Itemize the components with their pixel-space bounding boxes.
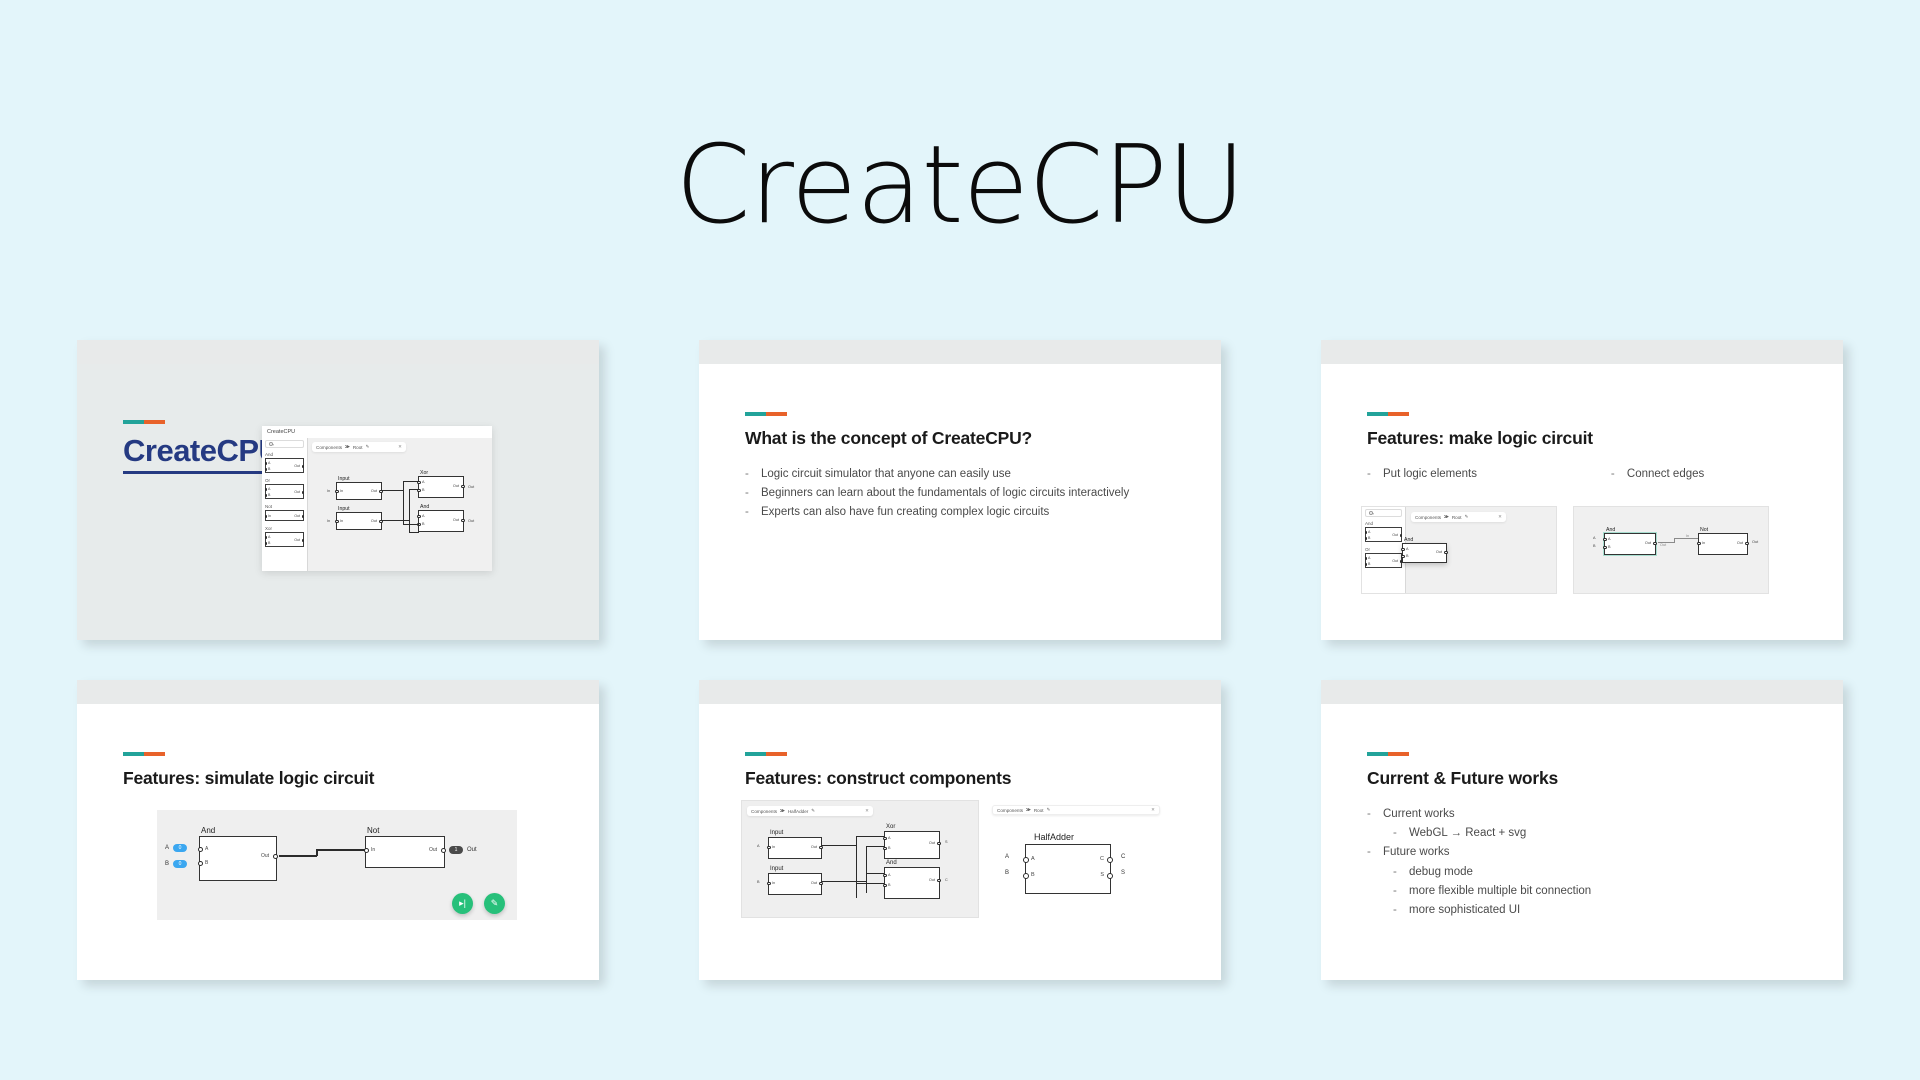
gate-box: A B Out bbox=[1365, 553, 1402, 568]
pin[interactable] bbox=[819, 846, 822, 849]
pin[interactable] bbox=[1745, 542, 1748, 545]
list-item: - Experts can also have fun creating com… bbox=[745, 505, 1175, 520]
output-label: Out bbox=[467, 847, 477, 853]
pin[interactable] bbox=[335, 520, 338, 523]
pin[interactable] bbox=[198, 861, 203, 866]
canvas-gate-not[interactable]: Not In Out bbox=[1698, 533, 1748, 555]
wire-label: Out bbox=[1660, 543, 1666, 547]
pin[interactable] bbox=[1023, 857, 1029, 863]
slide-topbar bbox=[699, 680, 1221, 704]
pin[interactable] bbox=[937, 842, 940, 845]
slide-title: Features: make logic circuit bbox=[1367, 428, 1807, 449]
list-item: - Connect edges bbox=[1611, 467, 1807, 482]
pin-label: B bbox=[1031, 872, 1035, 878]
input-row-b[interactable]: B 0 bbox=[165, 860, 187, 868]
breadcrumb[interactable]: Components ≫ HalfAdder ✎ ✕ bbox=[747, 806, 873, 816]
pin[interactable] bbox=[1401, 548, 1404, 551]
input-row-a[interactable]: A 0 bbox=[165, 844, 187, 852]
breadcrumb-current[interactable]: Root bbox=[1034, 808, 1044, 813]
slide-body: CreateCPU CreateCPU And A B bbox=[77, 364, 599, 640]
pin-label: In bbox=[371, 847, 375, 853]
gate-box: In Out bbox=[265, 510, 304, 521]
pin[interactable] bbox=[461, 485, 464, 488]
pin[interactable] bbox=[1107, 873, 1113, 879]
wire bbox=[856, 836, 857, 898]
sim-gate-and[interactable]: And A B Out bbox=[199, 836, 277, 881]
close-icon[interactable]: ✕ bbox=[1151, 807, 1155, 813]
bullet-dash: - bbox=[1393, 865, 1409, 880]
pin-label: Out bbox=[429, 847, 437, 853]
wire-label: In bbox=[1686, 534, 1689, 538]
close-icon[interactable]: ✕ bbox=[398, 444, 402, 450]
search-input[interactable] bbox=[265, 440, 304, 448]
cover-heading-group: CreateCPU bbox=[123, 420, 280, 474]
bullet-dash: - bbox=[1393, 826, 1409, 841]
breadcrumb-current[interactable]: Root bbox=[353, 445, 363, 450]
wire bbox=[822, 845, 857, 846]
io-label: Out bbox=[468, 485, 474, 489]
gate-label: Xor bbox=[886, 824, 895, 830]
accent-teal bbox=[1367, 412, 1388, 416]
pin[interactable] bbox=[1653, 542, 1656, 545]
accent-orange bbox=[144, 420, 165, 424]
cover-logo: CreateCPU bbox=[123, 433, 280, 474]
canvas-gate-input-2[interactable]: Input In Out bbox=[768, 873, 822, 895]
gate-label: And bbox=[420, 504, 429, 510]
accent-teal bbox=[745, 412, 766, 416]
pin[interactable] bbox=[883, 874, 886, 877]
canvas-gate-input-2[interactable]: Input In Out bbox=[336, 512, 382, 530]
screenshot-root-halfadder: Components ≫ Root ✎ ✕ HalfAdder A B C S bbox=[987, 800, 1167, 918]
pin[interactable] bbox=[1603, 538, 1606, 541]
simulation-stage: A 0 B 0 And A B Out Not bbox=[157, 810, 517, 920]
io-label: S bbox=[945, 840, 948, 844]
wire bbox=[409, 489, 410, 533]
search-icon bbox=[269, 442, 273, 446]
io-label: B bbox=[1005, 870, 1009, 876]
wire bbox=[279, 855, 317, 857]
io-label: S bbox=[1121, 870, 1125, 876]
accent-teal bbox=[123, 752, 144, 756]
accent-bar bbox=[1367, 752, 1409, 756]
canvas-gate-xor[interactable]: Xor A B Out bbox=[884, 831, 940, 859]
accent-orange bbox=[1388, 412, 1409, 416]
palette-item-not[interactable]: Not In Out bbox=[265, 504, 304, 521]
gate-label: Input bbox=[338, 506, 350, 512]
bullet-dash: - bbox=[1611, 467, 1627, 482]
gate-box: A B Out bbox=[265, 484, 304, 499]
list-item: - Put logic elements bbox=[1367, 467, 1573, 482]
accent-bar bbox=[745, 412, 787, 416]
screenshot-connect-edges: And A B Out A B Not In Out Out bbox=[1573, 506, 1769, 594]
list-item: - Beginners can learn about the fundamen… bbox=[745, 486, 1175, 501]
bullet-text: Experts can also have fun creating compl… bbox=[761, 505, 1175, 520]
pin-label: C bbox=[1100, 856, 1104, 862]
pin[interactable] bbox=[1023, 873, 1029, 879]
step-button[interactable]: ▸| bbox=[452, 893, 473, 914]
gate-box: A B Out bbox=[265, 458, 304, 473]
search-input[interactable] bbox=[1365, 509, 1402, 517]
breadcrumb-current[interactable]: Root bbox=[1452, 515, 1462, 520]
palette-label: Or bbox=[1365, 547, 1402, 552]
pin[interactable] bbox=[937, 879, 940, 882]
breadcrumb[interactable]: Components ≫ Root ✎ ✕ bbox=[1411, 512, 1506, 522]
gate-box: A B Out bbox=[265, 532, 304, 547]
slide-body: Features: simulate logic circuit A 0 B 0… bbox=[77, 704, 599, 980]
pin[interactable] bbox=[883, 847, 886, 850]
pin[interactable] bbox=[819, 882, 822, 885]
bullet-text: more sophisticated UI bbox=[1409, 903, 1797, 918]
gate-box: A B Out bbox=[1365, 527, 1402, 542]
accent-orange bbox=[144, 752, 165, 756]
palette-item-or[interactable]: Or A B Out bbox=[265, 478, 304, 499]
screenshot-put-elements: And A B Out Or A B bbox=[1361, 506, 1557, 594]
palette-label: And bbox=[265, 452, 304, 457]
pin-label: S bbox=[1100, 872, 1104, 878]
close-icon[interactable]: ✕ bbox=[1498, 514, 1502, 520]
bullet-dash: - bbox=[745, 505, 761, 520]
breadcrumb-current[interactable]: HalfAdder bbox=[788, 809, 808, 814]
io-label: B bbox=[757, 880, 760, 884]
bullet-list: - Current works - WebGL → React + svg - … bbox=[1367, 807, 1797, 918]
pencil-icon: ✎ bbox=[491, 898, 499, 909]
gate-label: And bbox=[886, 860, 897, 866]
io-label: A bbox=[1005, 854, 1009, 860]
palette-item-xor[interactable]: Xor A B Out bbox=[265, 526, 304, 547]
pin[interactable] bbox=[1697, 542, 1700, 545]
slide-concept[interactable]: What is the concept of CreateCPU? - Logi… bbox=[699, 340, 1221, 640]
chevron-right-icon: ≫ bbox=[1444, 514, 1449, 520]
dragged-gate[interactable]: And A B Out bbox=[1402, 543, 1447, 563]
palette-item-or[interactable]: Or A B Out bbox=[1365, 547, 1402, 568]
slide-body: What is the concept of CreateCPU? - Logi… bbox=[699, 364, 1221, 640]
accent-bar bbox=[123, 420, 165, 424]
pencil-icon[interactable]: ✎ bbox=[1047, 807, 1051, 813]
wire bbox=[403, 524, 419, 525]
pin-label: A bbox=[1031, 856, 1035, 862]
screenshot-halfadder-internals: Components ≫ HalfAdder ✎ ✕ Input In Out … bbox=[741, 800, 979, 918]
gate-label: Input bbox=[338, 476, 350, 482]
pencil-icon[interactable]: ✎ bbox=[366, 444, 370, 450]
slide-title: What is the concept of CreateCPU? bbox=[745, 428, 1175, 449]
pin-label: Out bbox=[261, 853, 269, 859]
accent-bar bbox=[745, 752, 787, 756]
accent-teal bbox=[1367, 752, 1388, 756]
pin[interactable] bbox=[198, 847, 203, 852]
canvas-gate-input-1[interactable]: Input In Out bbox=[768, 837, 822, 859]
slide-current-future-works[interactable]: Current & Future works - Current works -… bbox=[1321, 680, 1843, 980]
bullet-list: - Logic circuit simulator that anyone ca… bbox=[745, 467, 1175, 521]
output-row: 1 Out bbox=[449, 846, 477, 854]
wire bbox=[856, 836, 884, 837]
gate-label: And bbox=[1404, 537, 1413, 543]
component-palette[interactable]: And A B Out Or A B bbox=[262, 438, 308, 571]
accent-orange bbox=[766, 412, 787, 416]
list-item: - debug mode bbox=[1367, 865, 1797, 880]
pin[interactable] bbox=[767, 882, 770, 885]
bullet-text: Current works bbox=[1383, 807, 1797, 822]
pin[interactable] bbox=[335, 490, 338, 493]
io-label: C bbox=[945, 878, 948, 882]
bullet-text: Connect edges bbox=[1627, 467, 1807, 482]
app-screenshot-cover: CreateCPU And A B Out bbox=[262, 426, 492, 571]
breadcrumb[interactable]: Components ≫ Root ✎ ✕ bbox=[992, 805, 1160, 815]
pin[interactable] bbox=[1107, 857, 1113, 863]
list-item: - WebGL → React + svg bbox=[1367, 826, 1797, 841]
gate-label: And bbox=[201, 826, 215, 835]
io-label: B bbox=[1593, 544, 1596, 548]
palette-item-and[interactable]: And A B Out bbox=[1365, 521, 1402, 542]
pin[interactable] bbox=[883, 837, 886, 840]
slide-title: Current & Future works bbox=[1367, 768, 1797, 789]
input-label: A bbox=[165, 845, 169, 851]
wire bbox=[382, 520, 410, 521]
breadcrumb-root[interactable]: Components bbox=[1415, 515, 1441, 520]
bullet-text: Put logic elements bbox=[1383, 467, 1573, 482]
output-value-badge: 1 bbox=[449, 846, 463, 854]
io-label: A bbox=[757, 844, 760, 848]
bullet-dash: - bbox=[1393, 903, 1409, 918]
accent-teal bbox=[123, 420, 144, 424]
gate-label: Not bbox=[1700, 527, 1708, 533]
io-label: C bbox=[1121, 854, 1125, 860]
wire bbox=[866, 873, 884, 874]
search-icon bbox=[1369, 511, 1373, 515]
wire bbox=[409, 532, 419, 533]
pin[interactable] bbox=[1401, 555, 1404, 558]
list-item: - more flexible multiple bit connection bbox=[1367, 884, 1797, 899]
bullet-dash: - bbox=[745, 486, 761, 501]
slide-title: Features: simulate logic circuit bbox=[123, 768, 553, 789]
chevron-right-icon: ≫ bbox=[780, 808, 785, 814]
gate-label: Xor bbox=[420, 470, 428, 476]
gate-label: Not bbox=[367, 826, 379, 835]
bullet-dash: - bbox=[1367, 807, 1383, 822]
sim-gate-not[interactable]: Not In Out bbox=[365, 836, 445, 868]
wire bbox=[409, 489, 419, 490]
canvas-gate-and[interactable]: And A B Out bbox=[884, 867, 940, 899]
bullet-dash: - bbox=[745, 467, 761, 482]
slide-topbar bbox=[1321, 680, 1843, 704]
pin[interactable] bbox=[461, 519, 464, 522]
component-label: HalfAdder bbox=[1034, 832, 1074, 842]
palette-label: Xor bbox=[265, 526, 304, 531]
io-label: A bbox=[1593, 536, 1596, 540]
gate-label: And bbox=[1606, 527, 1615, 533]
component-block-halfadder[interactable]: HalfAdder A B C S bbox=[1025, 844, 1111, 894]
accent-teal bbox=[745, 752, 766, 756]
chevron-right-icon: ≫ bbox=[1026, 807, 1031, 813]
slide-body: Features: make logic circuit - Put logic… bbox=[1321, 364, 1843, 640]
wire bbox=[866, 846, 867, 893]
wire bbox=[822, 881, 867, 882]
list-item: - Current works bbox=[1367, 807, 1797, 822]
slide-cover[interactable]: CreateCPU CreateCPU And A B bbox=[77, 340, 599, 640]
bullet-text: Logic circuit simulator that anyone can … bbox=[761, 467, 1175, 482]
wire bbox=[403, 481, 419, 482]
palette-label: Not bbox=[265, 504, 304, 509]
column-labels: - Put logic elements - Connect edges bbox=[1367, 467, 1807, 486]
gate-label: Input bbox=[770, 830, 783, 836]
input-value-badge[interactable]: 0 bbox=[173, 844, 187, 852]
slide-body: Features: construct components Component… bbox=[699, 704, 1221, 980]
gate-label: Input bbox=[770, 866, 783, 872]
wire bbox=[382, 490, 404, 491]
page-title: CreateCPU bbox=[0, 0, 1920, 240]
canvas-gate-input-1[interactable]: Input In Out bbox=[336, 482, 382, 500]
canvas[interactable]: Components ≫ Root ✎ ✕ Input In O bbox=[308, 438, 492, 571]
input-label: B bbox=[165, 861, 169, 867]
pin[interactable] bbox=[767, 846, 770, 849]
io-label: Out bbox=[1752, 540, 1758, 544]
io-label: Out bbox=[468, 519, 474, 523]
slide-topbar bbox=[699, 340, 1221, 364]
pin-label: A bbox=[205, 846, 208, 852]
accent-bar bbox=[123, 752, 165, 756]
pin[interactable] bbox=[417, 515, 420, 518]
slide-topbar bbox=[77, 680, 599, 704]
bullet-text: more flexible multiple bit connection bbox=[1409, 884, 1797, 899]
slide-body: Current & Future works - Current works -… bbox=[1321, 704, 1843, 980]
canvas-gate-and[interactable]: And A B Out bbox=[418, 510, 464, 532]
pencil-icon[interactable]: ✎ bbox=[811, 808, 815, 814]
bullet-dash: - bbox=[1367, 845, 1383, 860]
io-label: In bbox=[327, 519, 330, 523]
list-item: - Future works bbox=[1367, 845, 1797, 860]
palette-label: And bbox=[1365, 521, 1402, 526]
palette-item-and[interactable]: And A B Out bbox=[265, 452, 304, 473]
accent-orange bbox=[766, 752, 787, 756]
breadcrumb-root[interactable]: Components bbox=[997, 808, 1023, 813]
pin[interactable] bbox=[1603, 546, 1606, 549]
list-item: - more sophisticated UI bbox=[1367, 903, 1797, 918]
wire bbox=[866, 846, 884, 847]
bullet-dash: - bbox=[1367, 467, 1383, 482]
wire bbox=[856, 883, 884, 884]
breadcrumb-root[interactable]: Components bbox=[316, 445, 342, 450]
accent-orange bbox=[1388, 752, 1409, 756]
slide-topbar bbox=[77, 340, 599, 364]
step-icon: ▸| bbox=[459, 898, 466, 909]
bullet-dash: - bbox=[1393, 884, 1409, 899]
pin-label: B bbox=[205, 860, 208, 866]
close-icon[interactable]: ✕ bbox=[865, 808, 869, 814]
pin[interactable] bbox=[883, 884, 886, 887]
list-item: - Logic circuit simulator that anyone ca… bbox=[745, 467, 1175, 482]
canvas-gate-and[interactable]: And A B Out bbox=[1604, 533, 1656, 555]
slide-simulate-logic-circuit[interactable]: Features: simulate logic circuit A 0 B 0… bbox=[77, 680, 599, 980]
app-window-title: CreateCPU bbox=[262, 426, 492, 438]
pin[interactable] bbox=[273, 854, 278, 859]
edit-button[interactable]: ✎ bbox=[484, 893, 505, 914]
slide-grid: CreateCPU CreateCPU And A B bbox=[65, 240, 1855, 980]
component-palette[interactable]: And A B Out Or A B bbox=[1362, 507, 1406, 593]
io-label: In bbox=[327, 489, 330, 493]
canvas-gate-xor[interactable]: Xor A B Out bbox=[418, 476, 464, 498]
breadcrumb-root[interactable]: Components bbox=[751, 809, 777, 814]
slide-topbar bbox=[1321, 340, 1843, 364]
palette-label: Or bbox=[265, 478, 304, 483]
pin[interactable] bbox=[441, 848, 446, 853]
bullet-text: WebGL → React + svg bbox=[1409, 826, 1797, 841]
accent-bar bbox=[1367, 412, 1409, 416]
bullet-text: Beginners can learn about the fundamenta… bbox=[761, 486, 1175, 501]
wire bbox=[316, 849, 365, 851]
breadcrumb[interactable]: Components ≫ Root ✎ ✕ bbox=[312, 442, 406, 452]
chevron-right-icon: ≫ bbox=[345, 444, 350, 450]
slide-title: Features: construct components bbox=[745, 768, 1185, 789]
wire bbox=[403, 481, 404, 525]
slide-make-logic-circuit[interactable]: Features: make logic circuit - Put logic… bbox=[1321, 340, 1843, 640]
slide-construct-components[interactable]: Features: construct components Component… bbox=[699, 680, 1221, 980]
bullet-text: Future works bbox=[1383, 845, 1797, 860]
input-value-badge[interactable]: 0 bbox=[173, 860, 187, 868]
bullet-text: debug mode bbox=[1409, 865, 1797, 880]
pencil-icon[interactable]: ✎ bbox=[1465, 514, 1469, 520]
